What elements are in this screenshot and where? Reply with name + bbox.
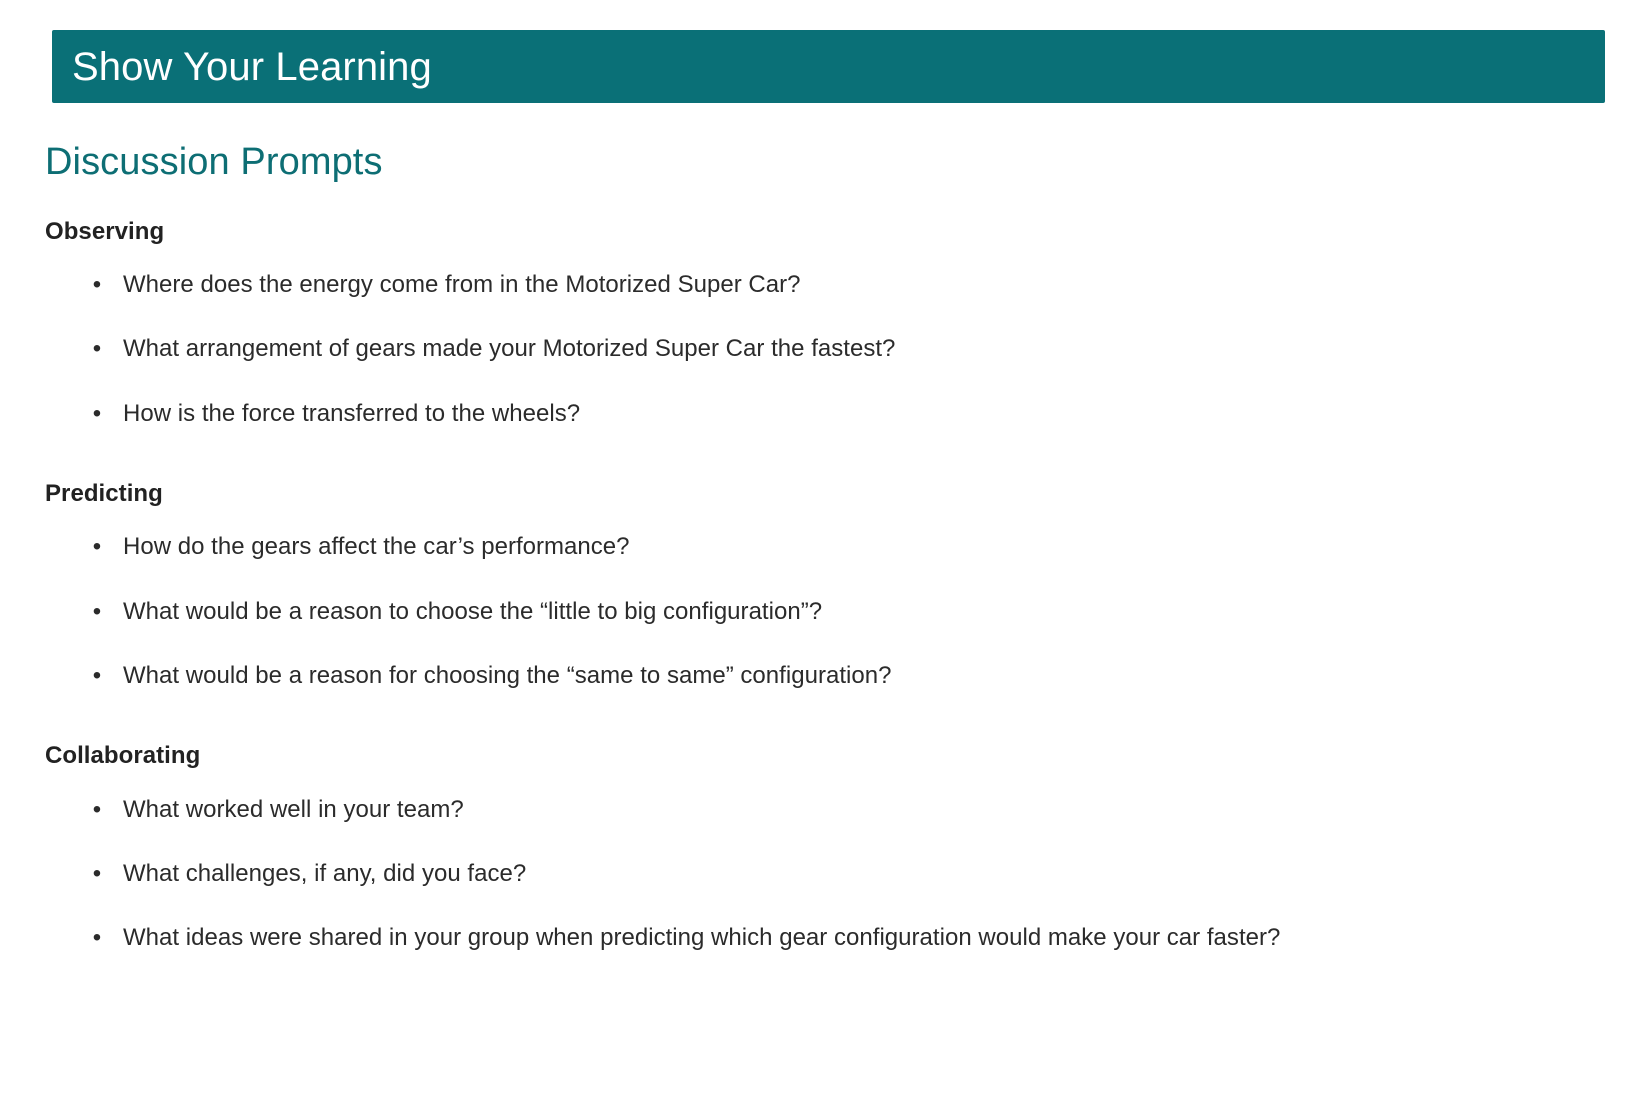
banner-title: Show Your Learning bbox=[52, 47, 432, 87]
page-title: Discussion Prompts bbox=[45, 140, 1615, 186]
lesson-page: Show Your Learning Discussion Prompts Ob… bbox=[0, 0, 1652, 1118]
bullet-icon: • bbox=[91, 922, 103, 954]
group-heading-predicting: Predicting bbox=[45, 478, 1615, 509]
list-item-text: What ideas were shared in your group whe… bbox=[123, 924, 1280, 951]
prompt-list-predicting: • How do the gears affect the car’s perf… bbox=[45, 531, 1615, 692]
bullet-icon: • bbox=[91, 660, 103, 692]
prompt-group-collaborating: Collaborating • What worked well in your… bbox=[45, 740, 1615, 954]
list-item: • What would be a reason to choose the “… bbox=[45, 596, 1615, 628]
prompt-list-collaborating: • What worked well in your team? • What … bbox=[45, 794, 1615, 955]
bullet-icon: • bbox=[91, 333, 103, 365]
bullet-icon: • bbox=[91, 794, 103, 826]
list-item: • How do the gears affect the car’s perf… bbox=[45, 531, 1615, 563]
list-item-text: How do the gears affect the car’s perfor… bbox=[123, 533, 630, 560]
list-item-text: What would be a reason to choose the “li… bbox=[123, 598, 822, 625]
prompt-list-observing: • Where does the energy come from in the… bbox=[45, 269, 1615, 430]
list-item: • What worked well in your team? bbox=[45, 794, 1615, 826]
list-item: • What arrangement of gears made your Mo… bbox=[45, 333, 1615, 365]
list-item-text: How is the force transferred to the whee… bbox=[123, 400, 580, 427]
prompt-group-predicting: Predicting • How do the gears affect the… bbox=[45, 478, 1615, 692]
bullet-icon: • bbox=[91, 531, 103, 563]
list-item-text: What would be a reason for choosing the … bbox=[123, 662, 891, 689]
bullet-icon: • bbox=[91, 269, 103, 301]
group-heading-observing: Observing bbox=[45, 216, 1615, 247]
prompt-group-observing: Observing • Where does the energy come f… bbox=[45, 216, 1615, 430]
bullet-icon: • bbox=[91, 858, 103, 890]
group-heading-collaborating: Collaborating bbox=[45, 740, 1615, 771]
page-banner: Show Your Learning bbox=[52, 30, 1605, 103]
list-item: • What ideas were shared in your group w… bbox=[45, 922, 1615, 954]
bullet-icon: • bbox=[91, 398, 103, 430]
list-item-text: What challenges, if any, did you face? bbox=[123, 860, 526, 887]
list-item: • What would be a reason for choosing th… bbox=[45, 660, 1615, 692]
list-item: • How is the force transferred to the wh… bbox=[45, 398, 1615, 430]
list-item-text: Where does the energy come from in the M… bbox=[123, 271, 801, 298]
list-item-text: What worked well in your team? bbox=[123, 796, 464, 823]
list-item: • What challenges, if any, did you face? bbox=[45, 858, 1615, 890]
list-item-text: What arrangement of gears made your Moto… bbox=[123, 335, 895, 362]
list-item: • Where does the energy come from in the… bbox=[45, 269, 1615, 301]
bullet-icon: • bbox=[91, 596, 103, 628]
content-area: Discussion Prompts Observing • Where doe… bbox=[45, 140, 1615, 955]
